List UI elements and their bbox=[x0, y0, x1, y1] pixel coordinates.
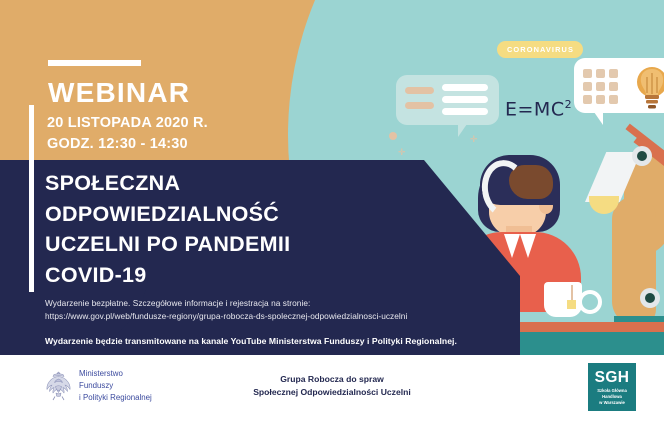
sparkle-icon: ✛ bbox=[470, 135, 478, 144]
lamp-joint bbox=[640, 288, 660, 308]
sgh-fullname: Szkoła Główna Handlowa w Warszawie bbox=[597, 388, 627, 406]
sgh-logo: SGH Szkoła Główna Handlowa w Warszawie bbox=[588, 363, 636, 411]
bubble-line bbox=[442, 108, 488, 115]
event-date: 20 LISTOPADA 2020 R. bbox=[47, 113, 208, 134]
dot-grid-icon bbox=[583, 69, 618, 104]
page-title: SPOŁECZNA ODPOWIEDZIALNOŚĆ UCZELNI PO PA… bbox=[45, 168, 290, 290]
teabag-string bbox=[571, 285, 573, 301]
bubble-line bbox=[405, 87, 434, 94]
kicker-label: WEBINAR bbox=[48, 79, 190, 107]
bubble-line bbox=[442, 96, 488, 103]
accent-rule-horizontal bbox=[48, 60, 141, 66]
formula-exponent: 2 bbox=[565, 98, 573, 111]
registration-info: Wydarzenie bezpłatne. Szczegółowe inform… bbox=[45, 297, 407, 324]
mug-handle bbox=[578, 290, 602, 314]
lightbulb-icon bbox=[632, 64, 664, 110]
accent-rule-vertical bbox=[29, 105, 34, 292]
formula-base: E=MC bbox=[505, 98, 565, 120]
bubble-line bbox=[442, 84, 488, 91]
working-group-name: Grupa Robocza do spraw Społecznej Odpowi… bbox=[0, 373, 664, 400]
sparkle-icon: ✛ bbox=[398, 148, 406, 157]
bubble-line bbox=[405, 102, 434, 109]
webinar-poster: ✛ ✛ ✛ ✛ ✛ bbox=[0, 0, 664, 442]
footer: Ministerstwo Funduszy i Polityki Regiona… bbox=[0, 355, 664, 442]
broadcast-note: Wydarzenie będzie transmitowane na kanal… bbox=[45, 336, 457, 346]
lamp-joint bbox=[632, 146, 652, 166]
formula-emc2: E=MC2 bbox=[505, 98, 572, 120]
dot-decoration bbox=[389, 132, 397, 140]
coronavirus-badge: CORONAVIRUS bbox=[497, 41, 583, 58]
registration-note: Wydarzenie bezpłatne. Szczegółowe inform… bbox=[45, 297, 407, 310]
title-line-2: ODPOWIEDZIALNOŚĆ bbox=[45, 199, 290, 230]
title-line-1: SPOŁECZNA bbox=[45, 168, 290, 199]
tea-mug bbox=[544, 282, 582, 317]
speech-bubble-left bbox=[396, 75, 499, 125]
event-datetime: 20 LISTOPADA 2020 R. GODZ. 12:30 - 14:30 bbox=[47, 113, 208, 155]
title-line-4: COVID-19 bbox=[45, 260, 290, 291]
title-line-3: UCZELNI PO PANDEMII bbox=[45, 229, 290, 260]
speech-bubble-right bbox=[574, 58, 664, 113]
event-time: GODZ. 12:30 - 14:30 bbox=[47, 134, 208, 155]
registration-url[interactable]: https://www.gov.pl/web/fundusze-regiony/… bbox=[45, 310, 407, 323]
teabag-tag bbox=[567, 300, 576, 309]
sgh-acronym: SGH bbox=[595, 370, 630, 386]
